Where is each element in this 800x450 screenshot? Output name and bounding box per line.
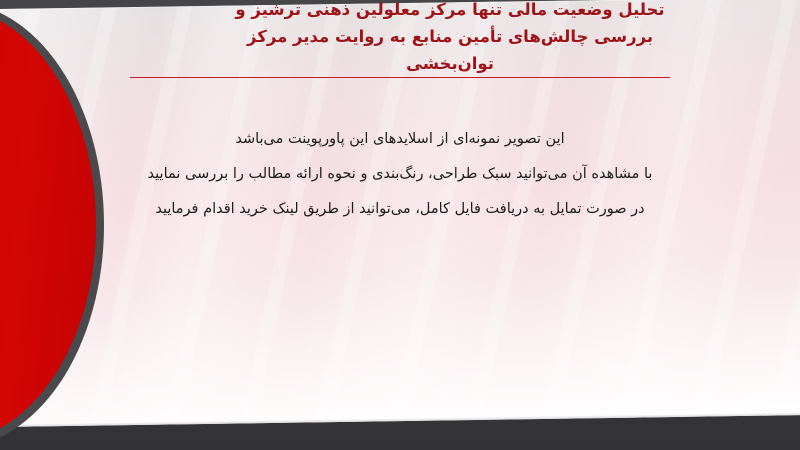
title-line-1: تحلیل وضعیت مالی تنها مرکز معلولین ذهنی … [120,0,780,23]
body-line-1: این تصویر نمونه‌ای از اسلایدهای این پاور… [110,122,690,157]
slide-title: تحلیل وضعیت مالی تنها مرکز معلولین ذهنی … [120,0,780,77]
title-divider-rule [130,77,670,78]
slide-body-text: این تصویر نمونه‌ای از اسلایدهای این پاور… [110,122,690,227]
body-line-2: با مشاهده آن می‌توانید سبک طراحی، رنگ‌بن… [110,157,690,192]
presentation-slide: تحلیل وضعیت مالی تنها مرکز معلولین ذهنی … [0,0,800,450]
title-line-2: بررسی چالش‌های تأمین منابع به روایت مدیر… [120,23,780,50]
title-line-3: توان‌بخشی [120,50,780,77]
body-line-3: در صورت تمایل به دریافت فایل کامل، می‌تو… [110,192,690,227]
